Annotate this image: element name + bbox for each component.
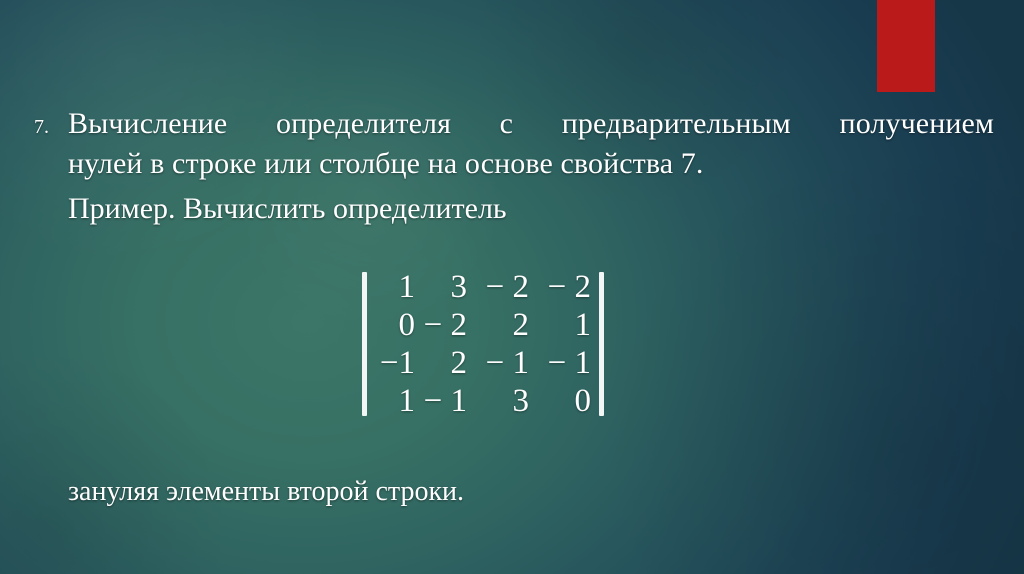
slide-content: 7. Вычисление определителя с предварител… <box>0 0 1024 574</box>
list-number-marker: 7. <box>28 107 68 147</box>
matrix-cell: 0 <box>373 306 417 344</box>
matrix-cell: 0 <box>531 382 593 420</box>
matrix-cell: 2 <box>417 344 469 382</box>
heading-text: Вычисление определителя с предварительны… <box>68 104 994 184</box>
heading-line-2: нулей в строке или столбце на основе сво… <box>68 144 994 184</box>
matrix-cell: 1 <box>531 306 593 344</box>
matrix-cell: 3 <box>469 382 531 420</box>
slide-canvas: 7. Вычисление определителя с предварител… <box>0 0 1024 574</box>
heading-row: 7. Вычисление определителя с предварител… <box>28 104 994 184</box>
matrix-cell: 3 <box>417 268 469 306</box>
determinant-matrix: 1 3 − 2 − 2 0 − 2 2 1 −1 2 − 1 − 1 1 − 1… <box>362 268 604 420</box>
matrix-cell: − 2 <box>531 268 593 306</box>
matrix-cell: 2 <box>469 306 531 344</box>
matrix-cell: − 2 <box>417 306 469 344</box>
matrix-cell: −1 <box>373 344 417 382</box>
matrix-cell: 1 <box>373 268 417 306</box>
matrix-cell: − 1 <box>417 382 469 420</box>
determinant-right-bar <box>599 272 604 416</box>
slide-heading: 7. Вычисление определителя с предварител… <box>28 104 994 184</box>
matrix-cell: − 1 <box>531 344 593 382</box>
matrix-cell: − 2 <box>469 268 531 306</box>
matrix-cell: 1 <box>373 382 417 420</box>
bottom-caption: зануляя элементы второй строки. <box>68 473 464 511</box>
matrix-cell: − 1 <box>469 344 531 382</box>
heading-line-1: Вычисление определителя с предварительны… <box>68 104 994 144</box>
determinant-left-bar <box>362 272 367 416</box>
example-subtitle: Пример. Вычислить определитель <box>68 189 507 229</box>
matrix-grid: 1 3 − 2 − 2 0 − 2 2 1 −1 2 − 1 − 1 1 − 1… <box>373 268 593 420</box>
red-accent-rectangle <box>877 0 935 92</box>
